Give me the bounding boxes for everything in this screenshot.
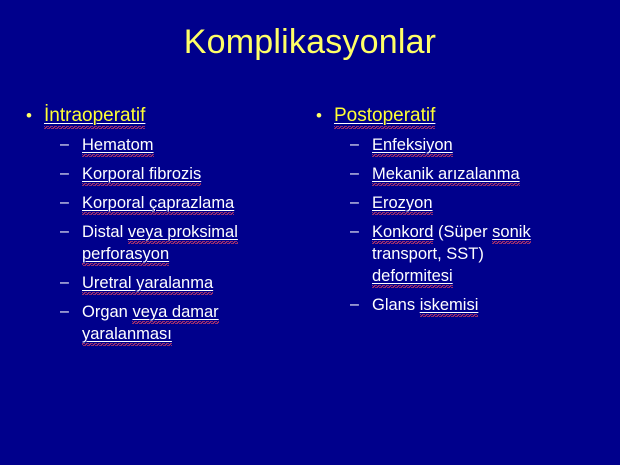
slide-body: • İntraoperatif –Hematom–Korporal fibroz… xyxy=(0,104,620,352)
list-item: –Mekanik arızalanma xyxy=(350,163,600,185)
plain-text: transport, SST) xyxy=(372,245,484,263)
bullet-dash-icon: – xyxy=(350,134,372,156)
list-item-label: Mekanik arızalanma xyxy=(372,163,567,185)
misspelled-text: Korporal fibrozis xyxy=(82,165,201,186)
bullet-dash-icon: – xyxy=(60,272,82,294)
plain-text: Glans xyxy=(372,296,420,314)
bullet-dash-icon: – xyxy=(60,192,82,214)
column-heading: Postoperatif xyxy=(334,104,600,127)
misspelled-text: Mekanik arızalanma xyxy=(372,165,520,186)
bullet-dot-icon: • xyxy=(312,104,334,127)
list-item-label: Glans iskemisi xyxy=(372,294,567,316)
misspelled-text: iskemisi xyxy=(420,296,479,317)
list-item: –Korporal fibrozis xyxy=(60,163,300,185)
bullet-group-intraoperatif: • İntraoperatif xyxy=(22,104,300,127)
bullet-dash-icon: – xyxy=(350,163,372,185)
list-item: –Konkord (Süper sonik transport, SST) de… xyxy=(350,221,600,287)
list-item-label: Enfeksiyon xyxy=(372,134,567,156)
misspelled-text: Konkord xyxy=(372,223,433,244)
content-column-left: • İntraoperatif –Hematom–Korporal fibroz… xyxy=(0,104,300,352)
list-item-label: Distal veya proksimal perforasyon xyxy=(82,221,277,265)
list-item-label: Konkord (Süper sonik transport, SST) def… xyxy=(372,221,567,287)
bullet-dash-icon: – xyxy=(60,221,82,243)
content-column-right: • Postoperatif –Enfeksiyon–Mekanik arıza… xyxy=(300,104,600,323)
bullet-dash-icon: – xyxy=(350,192,372,214)
misspelled-text: Erozyon xyxy=(372,194,433,215)
list-item: –Uretral yaralanma xyxy=(60,272,300,294)
list-item: –Korporal çaprazlama xyxy=(60,192,300,214)
misspelled-text: sonik xyxy=(492,223,531,244)
misspelled-text: Uretral yaralanma xyxy=(82,274,213,295)
bullet-dash-icon: – xyxy=(60,134,82,156)
plain-text: Organ xyxy=(82,303,132,321)
heading-text: Postoperatif xyxy=(334,105,435,129)
list-item-label: Erozyon xyxy=(372,192,567,214)
list-item-label: Uretral yaralanma xyxy=(82,272,277,294)
column-heading: İntraoperatif xyxy=(44,104,300,127)
bullet-dash-icon: – xyxy=(350,294,372,316)
misspelled-text: Enfeksiyon xyxy=(372,136,453,157)
misspelled-text: Korporal çaprazlama xyxy=(82,194,234,215)
bullet-dash-icon: – xyxy=(60,163,82,185)
list-item-label: Hematom xyxy=(82,134,277,156)
list-item-label: Korporal çaprazlama xyxy=(82,192,277,214)
list-item-label: Korporal fibrozis xyxy=(82,163,277,185)
list-item: –Distal veya proksimal perforasyon xyxy=(60,221,300,265)
plain-text: (Süper xyxy=(433,223,492,241)
bullet-dash-icon: – xyxy=(60,301,82,323)
presentation-slide: Komplikasyonlar • İntraoperatif –Hematom… xyxy=(0,0,620,465)
page-title: Komplikasyonlar xyxy=(0,24,620,61)
plain-text: Distal xyxy=(82,223,128,241)
list-item: –Enfeksiyon xyxy=(350,134,600,156)
misspelled-text: Hematom xyxy=(82,136,154,157)
bullet-group-postoperatif: • Postoperatif xyxy=(312,104,600,127)
sub-item-list-right: –Enfeksiyon–Mekanik arızalanma–Erozyon–K… xyxy=(312,134,600,316)
list-item: –Erozyon xyxy=(350,192,600,214)
sub-item-list-left: –Hematom–Korporal fibrozis–Korporal çapr… xyxy=(22,134,300,345)
bullet-dash-icon: – xyxy=(350,221,372,243)
list-item: –Hematom xyxy=(60,134,300,156)
list-item-label: Organ veya damar yaralanması xyxy=(82,301,277,345)
list-item: –Glans iskemisi xyxy=(350,294,600,316)
misspelled-text: deformitesi xyxy=(372,267,453,288)
list-item: –Organ veya damar yaralanması xyxy=(60,301,300,345)
bullet-dot-icon: • xyxy=(22,104,44,127)
heading-text: İntraoperatif xyxy=(44,105,145,129)
